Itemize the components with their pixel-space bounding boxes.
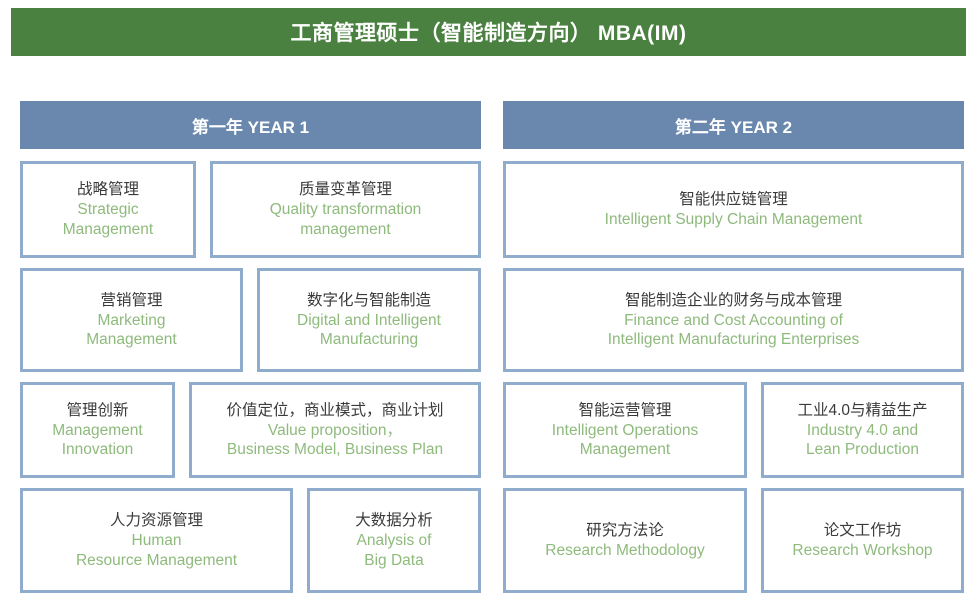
course-title-en: Strategic Management bbox=[63, 200, 153, 238]
course-title-cn: 智能制造企业的财务与成本管理 bbox=[625, 291, 842, 310]
course-card[interactable]: 研究方法论 Research Methodology bbox=[503, 488, 747, 593]
course-title-en: Finance and Cost Accounting of Intellige… bbox=[608, 311, 860, 349]
course-title-en: Digital and Intelligent Manufacturing bbox=[297, 311, 441, 349]
course-card[interactable]: 人力资源管理 Human Resource Management bbox=[20, 488, 293, 593]
curriculum-page: 工商管理硕士（智能制造方向） MBA(IM) 第一年 YEAR 1 战略管理 S… bbox=[0, 0, 977, 608]
course-card[interactable]: 数字化与智能制造 Digital and Intelligent Manufac… bbox=[257, 268, 481, 372]
year-1-header-label: 第一年 YEAR 1 bbox=[192, 113, 309, 138]
course-title-cn: 论文工作坊 bbox=[824, 521, 902, 540]
course-card[interactable]: 工业4.0与精益生产 Industry 4.0 and Lean Product… bbox=[761, 382, 964, 478]
course-card[interactable]: 价值定位，商业模式，商业计划 Value proposition， Busine… bbox=[189, 382, 481, 478]
course-card[interactable]: 智能制造企业的财务与成本管理 Finance and Cost Accounti… bbox=[503, 268, 964, 372]
year-2-header: 第二年 YEAR 2 bbox=[503, 101, 964, 149]
course-card[interactable]: 智能运营管理 Intelligent Operations Management bbox=[503, 382, 747, 478]
course-title-en: Human Resource Management bbox=[76, 531, 237, 569]
course-title-en: Analysis of Big Data bbox=[357, 531, 432, 569]
course-title-cn: 智能供应链管理 bbox=[679, 190, 788, 209]
course-title-en: Intelligent Operations Management bbox=[552, 421, 698, 459]
year-1-row-4: 人力资源管理 Human Resource Management 大数据分析 A… bbox=[20, 488, 481, 593]
course-title-cn: 战略管理 bbox=[77, 180, 139, 199]
course-card[interactable]: 智能供应链管理 Intelligent Supply Chain Managem… bbox=[503, 161, 964, 258]
course-title-cn: 数字化与智能制造 bbox=[307, 291, 431, 310]
course-title-cn: 大数据分析 bbox=[355, 511, 433, 530]
curriculum-columns: 第一年 YEAR 1 战略管理 Strategic Management 质量变… bbox=[20, 101, 963, 593]
year-2-row-2: 智能制造企业的财务与成本管理 Finance and Cost Accounti… bbox=[503, 268, 964, 372]
year-2-row-4: 研究方法论 Research Methodology 论文工作坊 Researc… bbox=[503, 488, 964, 593]
course-title-en: Marketing Management bbox=[86, 311, 176, 349]
course-title-cn: 管理创新 bbox=[66, 401, 128, 420]
year-1-column: 第一年 YEAR 1 战略管理 Strategic Management 质量变… bbox=[20, 101, 481, 593]
course-title-cn: 人力资源管理 bbox=[110, 511, 203, 530]
year-1-row-3: 管理创新 Management Innovation 价值定位，商业模式，商业计… bbox=[20, 382, 481, 478]
course-card[interactable]: 营销管理 Marketing Management bbox=[20, 268, 243, 372]
year-1-row-1: 战略管理 Strategic Management 质量变革管理 Quality… bbox=[20, 161, 481, 258]
course-card[interactable]: 质量变革管理 Quality transformation management bbox=[210, 161, 481, 258]
year-2-row-3: 智能运营管理 Intelligent Operations Management… bbox=[503, 382, 964, 478]
course-title-en: Management Innovation bbox=[52, 421, 142, 459]
year-1-row-2: 营销管理 Marketing Management 数字化与智能制造 Digit… bbox=[20, 268, 481, 372]
course-title-cn: 智能运营管理 bbox=[578, 401, 671, 420]
year-2-column: 第二年 YEAR 2 智能供应链管理 Intelligent Supply Ch… bbox=[503, 101, 964, 593]
year-2-header-label: 第二年 YEAR 2 bbox=[675, 113, 792, 138]
year-2-row-1: 智能供应链管理 Intelligent Supply Chain Managem… bbox=[503, 161, 964, 258]
course-title-cn: 价值定位，商业模式，商业计划 bbox=[226, 401, 443, 420]
course-title-en: Research Workshop bbox=[792, 541, 932, 560]
course-title-cn: 工业4.0与精益生产 bbox=[797, 401, 927, 420]
year-1-header: 第一年 YEAR 1 bbox=[20, 101, 481, 149]
course-title-en: Intelligent Supply Chain Management bbox=[605, 210, 863, 229]
course-title-en: Value proposition， Business Model, Busin… bbox=[227, 421, 443, 459]
course-title-cn: 研究方法论 bbox=[586, 521, 664, 540]
course-card[interactable]: 管理创新 Management Innovation bbox=[20, 382, 175, 478]
course-card[interactable]: 战略管理 Strategic Management bbox=[20, 161, 196, 258]
page-title: 工商管理硕士（智能制造方向） MBA(IM) bbox=[291, 17, 687, 47]
course-title-en: Quality transformation management bbox=[270, 200, 422, 238]
course-title-en: Research Methodology bbox=[545, 541, 704, 560]
program-title-bar: 工商管理硕士（智能制造方向） MBA(IM) bbox=[11, 8, 966, 56]
course-card[interactable]: 论文工作坊 Research Workshop bbox=[761, 488, 964, 593]
course-title-en: Industry 4.0 and Lean Production bbox=[806, 421, 919, 459]
course-title-cn: 营销管理 bbox=[100, 291, 162, 310]
course-card[interactable]: 大数据分析 Analysis of Big Data bbox=[307, 488, 481, 593]
course-title-cn: 质量变革管理 bbox=[299, 180, 392, 199]
